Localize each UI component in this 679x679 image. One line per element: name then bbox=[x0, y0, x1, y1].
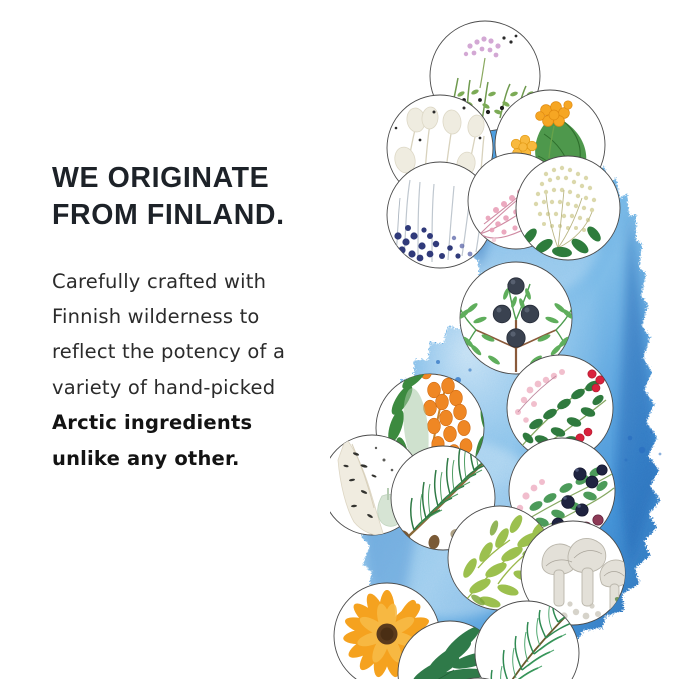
body-line-6: unlike any other. bbox=[52, 441, 352, 476]
body-line-4: variety of hand-picked bbox=[52, 370, 352, 405]
finland-map-illustration bbox=[330, 8, 679, 679]
page-title: WE ORIGINATE FROM FINLAND. bbox=[52, 160, 352, 234]
body-line-5: Arctic ingredients bbox=[52, 405, 352, 440]
poster-canvas: WE ORIGINATE FROM FINLAND. Carefully cra… bbox=[0, 0, 679, 679]
body-paragraph: Carefully crafted with Finnish wildernes… bbox=[52, 264, 352, 477]
body-line-3: reflect the potency of a bbox=[52, 334, 352, 369]
copy-block: WE ORIGINATE FROM FINLAND. Carefully cra… bbox=[52, 160, 352, 476]
body-line-1: Carefully crafted with bbox=[52, 264, 352, 299]
body-line-2: Finnish wilderness to bbox=[52, 299, 352, 334]
ingredient-circle-meadowsweet bbox=[516, 156, 620, 260]
